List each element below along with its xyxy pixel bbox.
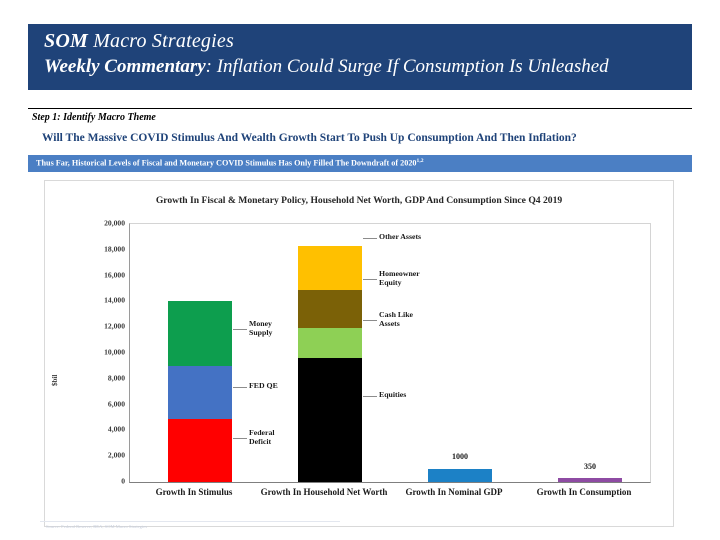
data-label-nominal-gdp: 1000: [428, 452, 492, 461]
footnote-divider: [40, 521, 340, 522]
plot-area: 1000 350 Money Supply FED QE Federal Def…: [129, 223, 651, 483]
x-label-growth-in-household-net-worth: Growth In Household Net Worth: [259, 487, 389, 498]
segment-federal-deficit[interactable]: [168, 419, 232, 482]
y-tick-0: 0: [121, 477, 125, 486]
step-divider: [28, 108, 692, 109]
leader-other-assets: [363, 238, 377, 239]
callout-equities: Equities: [379, 391, 406, 400]
bar-growth-in-consumption[interactable]: [558, 478, 622, 483]
segment-equities[interactable]: [298, 358, 362, 483]
callout-money-supply: Money Supply: [249, 320, 272, 338]
y-tick-14000: 14,000: [104, 296, 125, 305]
leader-federal-deficit: [233, 438, 247, 439]
commentary-lead: Weekly Commentary: [44, 56, 206, 77]
brand-title-rest: Macro Strategies: [88, 30, 234, 52]
takeaway-band: Thus Far, Historical Levels of Fiscal an…: [28, 155, 692, 172]
y-tick-10000: 10,000: [104, 348, 125, 357]
y-tick-18000: 18,000: [104, 245, 125, 254]
footnote-text: Source: Federal Reserve, BEA, SOM Macro …: [46, 524, 147, 529]
commentary-subtitle: Weekly Commentary: Inflation Could Surge…: [44, 56, 609, 78]
segment-money-supply[interactable]: [168, 301, 232, 366]
leader-equities: [363, 396, 377, 397]
leader-money-supply: [233, 329, 247, 330]
chart-container: Growth In Fiscal & Monetary Policy, Hous…: [44, 180, 674, 527]
brand-title: SOM Macro Strategies: [44, 30, 234, 53]
callout-federal-deficit: Federal Deficit: [249, 429, 275, 447]
x-label-growth-in-consumption: Growth In Consumption: [519, 487, 649, 498]
segment-fed-qe[interactable]: [168, 366, 232, 419]
y-tick-20000: 20,000: [104, 219, 125, 228]
data-label-consumption: 350: [558, 462, 622, 471]
bar-growth-in-household-net-worth[interactable]: [298, 246, 362, 482]
y-axis-ticks: 0 2,000 4,000 6,000 8,000 10,000 12,000 …: [45, 223, 125, 481]
x-label-growth-in-nominal-gdp: Growth In Nominal GDP: [389, 487, 519, 498]
chart-title: Growth In Fiscal & Monetary Policy, Hous…: [45, 195, 673, 206]
y-tick-12000: 12,000: [104, 322, 125, 331]
macro-question: Will The Massive COVID Stimulus And Weal…: [42, 132, 577, 144]
leader-cash-like-assets: [363, 320, 377, 321]
brand-name: SOM: [44, 30, 88, 52]
slide: SOM Macro Strategies Weekly Commentary: …: [0, 0, 720, 540]
y-tick-6000: 6,000: [108, 400, 125, 409]
callout-homeowner-equity: Homeowner Equity: [379, 270, 420, 288]
y-tick-8000: 8,000: [108, 374, 125, 383]
commentary-rest: : Inflation Could Surge If Consumption I…: [206, 56, 609, 77]
y-tick-16000: 16,000: [104, 271, 125, 280]
step-label: Step 1: Identify Macro Theme: [32, 112, 156, 123]
x-label-growth-in-stimulus: Growth In Stimulus: [129, 487, 259, 498]
segment-cash-like-assets[interactable]: [298, 328, 362, 358]
segment-homeowner-equity[interactable]: [298, 290, 362, 328]
segment-other-assets[interactable]: [298, 246, 362, 290]
leader-homeowner-equity: [363, 279, 377, 280]
y-tick-2000: 2,000: [108, 451, 125, 460]
bar-growth-in-nominal-gdp[interactable]: [428, 469, 492, 482]
slide-header-banner: SOM Macro Strategies Weekly Commentary: …: [28, 24, 692, 90]
bar-growth-in-stimulus[interactable]: [168, 301, 232, 482]
takeaway-main: Thus Far, Historical Levels of Fiscal an…: [36, 159, 417, 168]
takeaway-text: Thus Far, Historical Levels of Fiscal an…: [36, 158, 424, 168]
callout-other-assets: Other Assets: [379, 233, 421, 242]
callout-fed-qe: FED QE: [249, 382, 278, 391]
callout-cash-like-assets: Cash Like Assets: [379, 311, 413, 329]
leader-fed-qe: [233, 387, 247, 388]
takeaway-superscript: 1,2: [417, 158, 424, 164]
y-tick-4000: 4,000: [108, 425, 125, 434]
